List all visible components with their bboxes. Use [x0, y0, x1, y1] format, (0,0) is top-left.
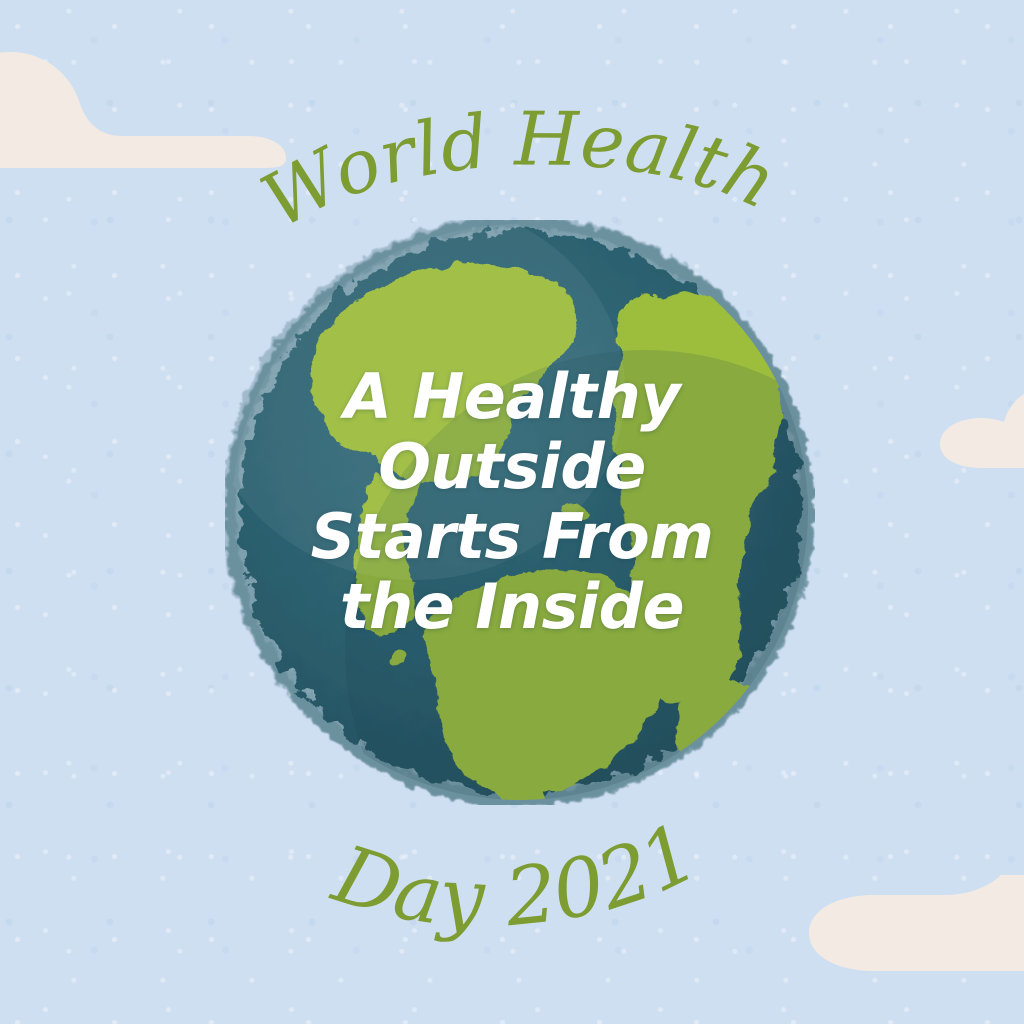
headline-line-1: A Healthy [0, 362, 1024, 432]
headline-line-2: Outside [0, 432, 1024, 502]
poster-canvas: World Health A Healthy Outside Starts Fr… [0, 0, 1024, 1024]
headline-line-3: Starts From [0, 502, 1024, 572]
cloud-bottom-right-icon [795, 865, 1024, 1005]
cloud-top-left-icon [0, 18, 300, 178]
continent-asia [676, 680, 798, 797]
bottom-script-arc: Day 2021 [265, 805, 775, 1005]
continent-island-b [387, 649, 407, 663]
bottom-script-text: Day 2021 [322, 805, 712, 945]
headline-block: A Healthy Outside Starts From the Inside [0, 362, 1024, 642]
headline-line-4: the Inside [0, 572, 1024, 642]
